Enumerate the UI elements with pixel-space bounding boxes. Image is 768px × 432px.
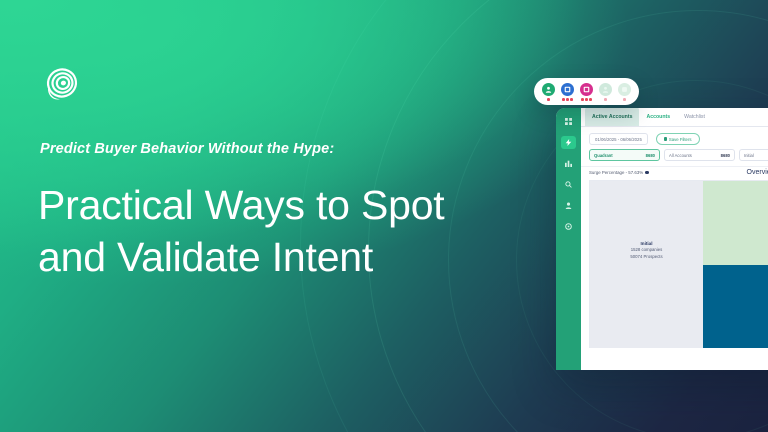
surge-percentage-label: Surge Percentage - 57.63%	[589, 170, 649, 175]
quadrant-interested[interactable]: Interested 1285 companies 28265 Prospect…	[703, 181, 768, 265]
avatar-blue[interactable]	[561, 83, 574, 101]
surge-percentage-text: Surge Percentage - 57.63%	[589, 170, 643, 175]
avatar-pink-badges	[581, 98, 591, 101]
filter-chip-row: Quadrant 8680 All Accounts 8680 Initial …	[581, 148, 768, 166]
save-filters-button[interactable]: Save Filters	[656, 133, 700, 145]
quadrant-bottom-left[interactable]	[590, 265, 703, 349]
contact-blue-avatar-icon	[561, 83, 574, 96]
sidebar-item-insights[interactable]	[561, 136, 576, 149]
avatar-pink[interactable]	[580, 83, 593, 101]
tab-bar: Active Accounts Accounts Watchlist	[581, 108, 768, 127]
mockup-content: Active Accounts Accounts Watchlist 01/06…	[581, 108, 768, 370]
quadrant-initial-companies: 1528 companies	[631, 247, 663, 252]
avatar-green-badges	[547, 98, 550, 101]
overview-title: Overview of Resear	[747, 169, 768, 176]
lock-icon	[664, 137, 667, 141]
filter-chip-initial-label: Initial	[744, 153, 754, 158]
quadrant-initial-prospects: 50074 Prospects	[630, 254, 662, 259]
contact-muted-avatar-1-icon	[599, 83, 612, 96]
tab-active-accounts[interactable]: Active Accounts	[585, 108, 639, 126]
tab-accounts[interactable]: Accounts	[639, 108, 677, 126]
contact-pink-avatar-icon	[580, 83, 593, 96]
settings-icon[interactable]	[561, 220, 576, 233]
eyebrow-text: Predict Buyer Behavior Without the Hype:	[40, 141, 334, 157]
info-icon[interactable]	[645, 171, 649, 175]
avatar-muted-1-badges	[604, 98, 607, 101]
filter-chip-quadrant[interactable]: Quadrant 8680	[589, 149, 660, 161]
avatar-muted-1[interactable]	[599, 83, 612, 101]
spiral-logo-icon	[40, 62, 84, 106]
headline-line-1: Practical Ways to Spot	[38, 180, 518, 232]
dashboard-mockup: Active Accounts Accounts Watchlist 01/06…	[556, 108, 768, 370]
filter-chip-quadrant-value: 8680	[646, 153, 655, 158]
sidebar-item-person[interactable]	[561, 199, 576, 212]
filter-chip-all-accounts-value: 8680	[721, 153, 730, 158]
avatar-muted-2-badges	[623, 98, 626, 101]
quadrant-chart: Initial 1528 companies 50074 Prospects I…	[589, 180, 768, 348]
contact-muted-avatar-2-icon	[618, 83, 631, 96]
tab-watchlist[interactable]: Watchlist	[677, 108, 712, 126]
quadrant-initial-name: Initial	[641, 241, 653, 246]
page-title: Practical Ways to Spot and Validate Inte…	[38, 180, 518, 283]
filter-chip-initial[interactable]: Initial 1511	[739, 149, 768, 161]
headline-line-2: and Validate Intent	[38, 232, 518, 284]
filter-chip-all-accounts-label: All Accounts	[669, 153, 692, 158]
avatar-muted-2[interactable]	[618, 83, 631, 101]
sidebar-item-chart[interactable]	[561, 157, 576, 170]
quadrant-initial[interactable]: Initial 1528 companies 50074 Prospects	[590, 181, 703, 265]
contact-green-avatar-icon	[542, 83, 555, 96]
hero-banner: Predict Buyer Behavior Without the Hype:…	[0, 0, 768, 432]
sidebar-item-dashboard[interactable]	[561, 115, 576, 128]
filter-chip-quadrant-label: Quadrant	[594, 153, 613, 158]
contact-avatar-pill	[534, 78, 639, 105]
quadrant-bottom-right[interactable]	[703, 265, 768, 349]
avatar-green[interactable]	[542, 83, 555, 101]
search-icon[interactable]	[561, 178, 576, 191]
filter-chip-all-accounts[interactable]: All Accounts 8680	[664, 149, 735, 161]
chart-header: Surge Percentage - 57.63% Overview of Re…	[581, 166, 768, 180]
save-filters-label: Save Filters	[669, 137, 692, 142]
mockup-sidebar	[556, 108, 581, 370]
filter-toolbar: 01/06/2025 - 06/06/2025 Save Filters	[581, 127, 768, 148]
avatar-blue-badges	[562, 98, 572, 101]
date-range-input[interactable]: 01/06/2025 - 06/06/2025	[589, 133, 648, 145]
